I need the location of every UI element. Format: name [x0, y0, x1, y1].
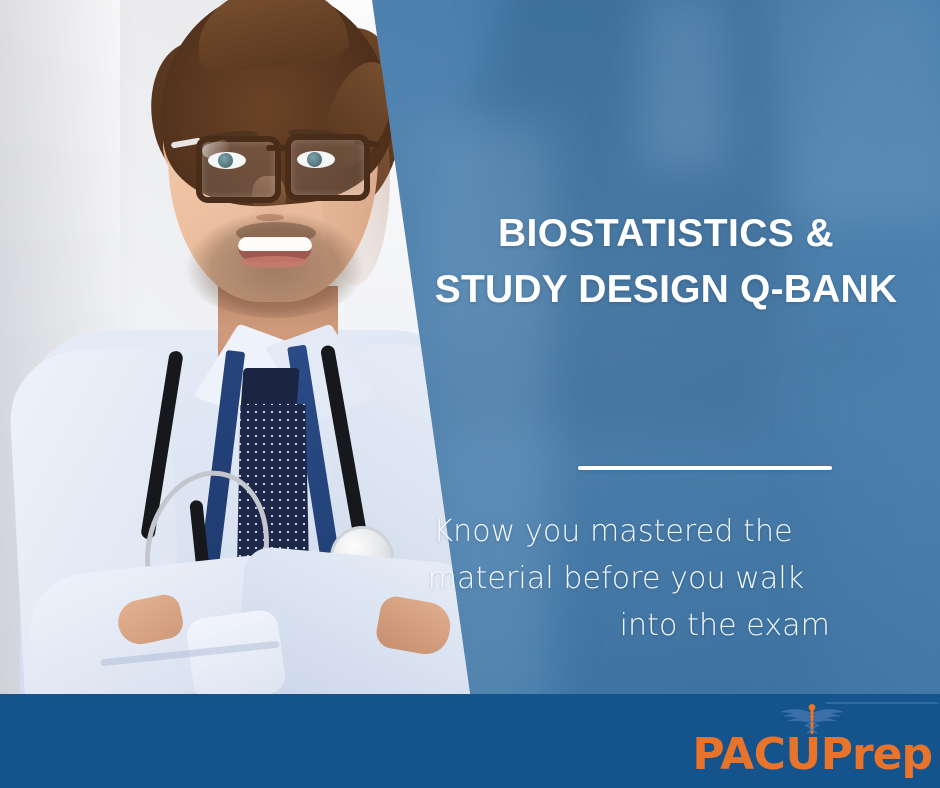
divider-rule	[578, 466, 832, 470]
glasses-lens-right	[285, 134, 370, 201]
subheadline-line-3: into the exam	[400, 602, 832, 649]
headline-line-2: STUDY DESIGN Q-BANK	[400, 262, 932, 318]
brand-bar: PACUPrep	[0, 694, 940, 788]
tie-knot	[241, 368, 300, 410]
subheadline: Know you mastered the material before yo…	[400, 508, 832, 649]
headline: BIOSTATISTICS & STUDY DESIGN Q-BANK	[400, 206, 932, 318]
subheadline-line-2: material before you walk	[400, 555, 832, 602]
promo-banner: BIOSTATISTICS & STUDY DESIGN Q-BANK Know…	[0, 0, 940, 788]
teeth	[238, 237, 312, 251]
logo-text-pacu: PACU	[692, 729, 820, 780]
lower-lip	[240, 256, 308, 268]
logo-wordmark: PACUPrep	[692, 730, 932, 780]
subheadline-line-1: Know you mastered the	[400, 508, 832, 555]
logo-text-prep: Prep	[821, 729, 932, 780]
glasses-bridge	[266, 145, 288, 151]
nostril	[256, 214, 284, 221]
caduceus-icon	[775, 704, 849, 734]
logo[interactable]: PACUPrep	[692, 704, 932, 782]
headline-line-1: BIOSTATISTICS &	[400, 206, 932, 262]
